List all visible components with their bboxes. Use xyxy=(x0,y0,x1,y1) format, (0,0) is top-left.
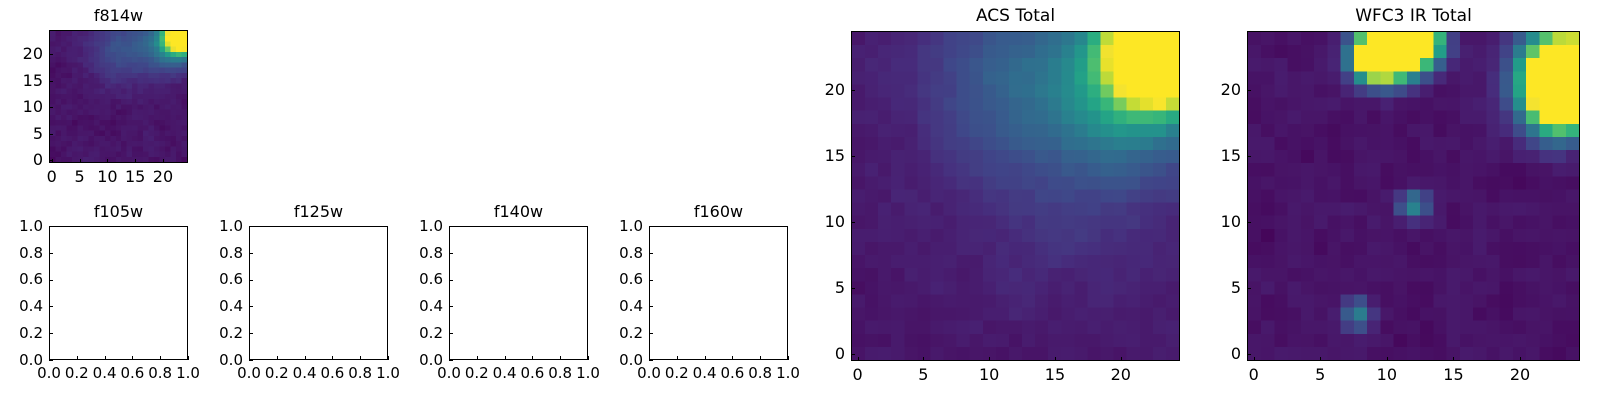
xtick-label: 10 xyxy=(77,167,137,186)
ytick-mark xyxy=(249,226,253,227)
ytick-mark xyxy=(1247,222,1251,223)
xtick-label: 0.6 xyxy=(702,364,762,382)
xtick-mark xyxy=(132,356,133,360)
xtick-label: 0.2 xyxy=(647,364,707,382)
ytick-mark xyxy=(49,253,53,254)
axes-f814w xyxy=(49,30,188,163)
xtick-label: 10 xyxy=(959,365,1019,384)
ytick-mark xyxy=(449,253,453,254)
xtick-label: 0.0 xyxy=(619,364,679,382)
xtick-mark xyxy=(649,356,650,360)
subplot-title-f160w: f160w xyxy=(649,202,788,221)
ytick-label: 5 xyxy=(0,124,43,143)
ytick-label: 10 xyxy=(0,97,43,116)
ytick-mark xyxy=(449,226,453,227)
matplotlib-figure: f814w0510152005101520f105w0.00.20.40.60.… xyxy=(0,0,1600,400)
heatmap-image-acs-total xyxy=(852,32,1179,360)
subplot-title-f105w: f105w xyxy=(49,202,188,221)
xtick-mark xyxy=(788,356,789,360)
xtick-mark xyxy=(1453,357,1454,361)
axes-f105w xyxy=(49,226,188,360)
xtick-label: 0.4 xyxy=(675,364,735,382)
ytick-label: 0.0 xyxy=(0,351,43,369)
ytick-mark xyxy=(249,306,253,307)
xtick-label: 1.0 xyxy=(558,364,618,382)
xtick-label: 10 xyxy=(1357,365,1417,384)
xtick-mark xyxy=(760,356,761,360)
ytick-mark xyxy=(49,160,53,161)
xtick-label: 1.0 xyxy=(758,364,818,382)
xtick-label: 1.0 xyxy=(358,364,418,382)
ytick-mark xyxy=(49,54,53,55)
xtick-label: 0.4 xyxy=(475,364,535,382)
ytick-mark xyxy=(449,280,453,281)
ytick-label: 0.8 xyxy=(583,244,643,262)
subplot-f160w: f160w0.00.20.40.60.81.00.00.20.40.60.81.… xyxy=(0,0,1600,400)
xtick-mark xyxy=(1520,357,1521,361)
ytick-label: 0.0 xyxy=(383,351,443,369)
xtick-label: 15 xyxy=(1423,365,1483,384)
ytick-mark xyxy=(49,226,53,227)
xtick-label: 0.8 xyxy=(730,364,790,382)
xtick-label: 0 xyxy=(1224,365,1284,384)
xtick-mark xyxy=(135,159,136,163)
xtick-label: 20 xyxy=(133,167,193,186)
xtick-mark xyxy=(1055,357,1056,361)
ytick-label: 0.8 xyxy=(383,244,443,262)
xtick-mark xyxy=(705,356,706,360)
xtick-label: 1.0 xyxy=(158,364,218,382)
xtick-mark xyxy=(449,356,450,360)
ytick-label: 0.6 xyxy=(0,270,43,288)
ytick-mark xyxy=(449,360,453,361)
ytick-mark xyxy=(49,134,53,135)
ytick-mark xyxy=(1247,288,1251,289)
subplot-f140w: f140w0.00.20.40.60.81.00.00.20.40.60.81.… xyxy=(0,0,1600,400)
subplot-title-f814w: f814w xyxy=(49,6,188,25)
ytick-mark xyxy=(249,360,253,361)
xtick-mark xyxy=(49,356,50,360)
ytick-label: 5 xyxy=(1181,278,1241,297)
ytick-label: 10 xyxy=(1181,212,1241,231)
ytick-label: 1.0 xyxy=(583,217,643,235)
xtick-label: 0.2 xyxy=(247,364,307,382)
ytick-label: 0 xyxy=(1181,344,1241,363)
ytick-label: 0.0 xyxy=(183,351,243,369)
ytick-label: 0.4 xyxy=(0,297,43,315)
ytick-mark xyxy=(649,280,653,281)
xtick-label: 0.0 xyxy=(419,364,479,382)
subplot-title-wfc3-ir-total: WFC3 IR Total xyxy=(1247,6,1580,26)
xtick-label: 0.4 xyxy=(75,364,135,382)
xtick-mark xyxy=(163,159,164,163)
ytick-mark xyxy=(851,354,855,355)
xtick-mark xyxy=(989,357,990,361)
ytick-label: 0.6 xyxy=(583,270,643,288)
xtick-mark xyxy=(732,356,733,360)
xtick-mark xyxy=(107,159,108,163)
xtick-mark xyxy=(923,357,924,361)
xtick-label: 0.8 xyxy=(530,364,590,382)
xtick-mark xyxy=(505,356,506,360)
ytick-label: 15 xyxy=(1181,146,1241,165)
ytick-mark xyxy=(851,90,855,91)
xtick-label: 0.6 xyxy=(502,364,562,382)
subplot-wfc3-ir-total: WFC3 IR Total0510152005101520 xyxy=(0,0,1600,400)
ytick-mark xyxy=(249,333,253,334)
xtick-mark xyxy=(80,159,81,163)
ytick-mark xyxy=(851,222,855,223)
xtick-label: 0.4 xyxy=(275,364,335,382)
xtick-mark xyxy=(188,356,189,360)
ytick-label: 15 xyxy=(0,71,43,90)
xtick-mark xyxy=(858,357,859,361)
ytick-mark xyxy=(49,306,53,307)
ytick-mark xyxy=(649,306,653,307)
ytick-mark xyxy=(649,333,653,334)
heatmap-image-wfc3-ir-total xyxy=(1248,32,1579,360)
xtick-mark xyxy=(332,356,333,360)
xtick-label: 20 xyxy=(1490,365,1550,384)
ytick-mark xyxy=(1247,156,1251,157)
ytick-label: 0.8 xyxy=(183,244,243,262)
axes-f140w xyxy=(449,226,588,360)
xtick-mark xyxy=(560,356,561,360)
xtick-mark xyxy=(360,356,361,360)
xtick-label: 5 xyxy=(893,365,953,384)
xtick-label: 0.0 xyxy=(219,364,279,382)
ytick-mark xyxy=(649,360,653,361)
xtick-mark xyxy=(388,356,389,360)
ytick-label: 0.0 xyxy=(583,351,643,369)
ytick-label: 20 xyxy=(0,44,43,63)
subplot-title-f140w: f140w xyxy=(449,202,588,221)
xtick-mark xyxy=(105,356,106,360)
xtick-mark xyxy=(305,356,306,360)
ytick-label: 0.6 xyxy=(183,270,243,288)
subplot-title-f125w: f125w xyxy=(249,202,388,221)
subplot-f814w: f814w0510152005101520 xyxy=(0,0,1600,400)
xtick-label: 0.6 xyxy=(102,364,162,382)
subplot-title-acs-total: ACS Total xyxy=(851,6,1180,26)
xtick-label: 0 xyxy=(22,167,82,186)
ytick-label: 0.4 xyxy=(183,297,243,315)
xtick-mark xyxy=(477,356,478,360)
heatmap-image-f814w xyxy=(50,31,187,162)
ytick-label: 0 xyxy=(0,150,43,169)
xtick-label: 0 xyxy=(828,365,888,384)
ytick-mark xyxy=(449,306,453,307)
xtick-mark xyxy=(677,356,678,360)
ytick-label: 10 xyxy=(785,212,845,231)
subplot-f105w: f105w0.00.20.40.60.81.00.00.20.40.60.81.… xyxy=(0,0,1600,400)
ytick-label: 0.2 xyxy=(583,324,643,342)
ytick-label: 0 xyxy=(785,344,845,363)
axes-f160w xyxy=(649,226,788,360)
xtick-mark xyxy=(1320,357,1321,361)
ytick-label: 1.0 xyxy=(0,217,43,235)
xtick-label: 0.8 xyxy=(330,364,390,382)
ytick-label: 15 xyxy=(785,146,845,165)
subplot-f125w: f125w0.00.20.40.60.81.00.00.20.40.60.81.… xyxy=(0,0,1600,400)
xtick-label: 0.2 xyxy=(447,364,507,382)
ytick-mark xyxy=(249,253,253,254)
xtick-mark xyxy=(249,356,250,360)
ytick-mark xyxy=(649,226,653,227)
xtick-mark xyxy=(588,356,589,360)
ytick-label: 20 xyxy=(785,80,845,99)
ytick-mark xyxy=(649,253,653,254)
xtick-label: 0.2 xyxy=(47,364,107,382)
ytick-label: 20 xyxy=(1181,80,1241,99)
ytick-mark xyxy=(851,288,855,289)
ytick-label: 0.4 xyxy=(383,297,443,315)
axes-wfc3-ir-total xyxy=(1247,31,1580,361)
xtick-mark xyxy=(52,159,53,163)
xtick-label: 15 xyxy=(1025,365,1085,384)
ytick-mark xyxy=(851,156,855,157)
ytick-mark xyxy=(449,333,453,334)
ytick-label: 0.6 xyxy=(383,270,443,288)
ytick-mark xyxy=(1247,354,1251,355)
xtick-mark xyxy=(160,356,161,360)
ytick-mark xyxy=(49,333,53,334)
xtick-mark xyxy=(1254,357,1255,361)
ytick-label: 1.0 xyxy=(183,217,243,235)
ytick-mark xyxy=(49,360,53,361)
xtick-label: 15 xyxy=(105,167,165,186)
xtick-label: 0.6 xyxy=(302,364,362,382)
xtick-label: 5 xyxy=(1290,365,1350,384)
xtick-label: 20 xyxy=(1091,365,1151,384)
ytick-mark xyxy=(1247,90,1251,91)
ytick-label: 0.2 xyxy=(183,324,243,342)
xtick-mark xyxy=(277,356,278,360)
xtick-label: 5 xyxy=(50,167,110,186)
ytick-label: 1.0 xyxy=(383,217,443,235)
ytick-mark xyxy=(249,280,253,281)
ytick-mark xyxy=(49,107,53,108)
ytick-label: 0.2 xyxy=(383,324,443,342)
ytick-mark xyxy=(49,280,53,281)
axes-acs-total xyxy=(851,31,1180,361)
ytick-label: 0.4 xyxy=(583,297,643,315)
xtick-label: 0.8 xyxy=(130,364,190,382)
xtick-mark xyxy=(532,356,533,360)
ytick-label: 5 xyxy=(785,278,845,297)
xtick-mark xyxy=(77,356,78,360)
xtick-label: 0.0 xyxy=(19,364,79,382)
ytick-label: 0.8 xyxy=(0,244,43,262)
xtick-mark xyxy=(1387,357,1388,361)
ytick-label: 0.2 xyxy=(0,324,43,342)
axes-f125w xyxy=(249,226,388,360)
xtick-mark xyxy=(1121,357,1122,361)
ytick-mark xyxy=(49,81,53,82)
subplot-acs-total: ACS Total0510152005101520 xyxy=(0,0,1600,400)
